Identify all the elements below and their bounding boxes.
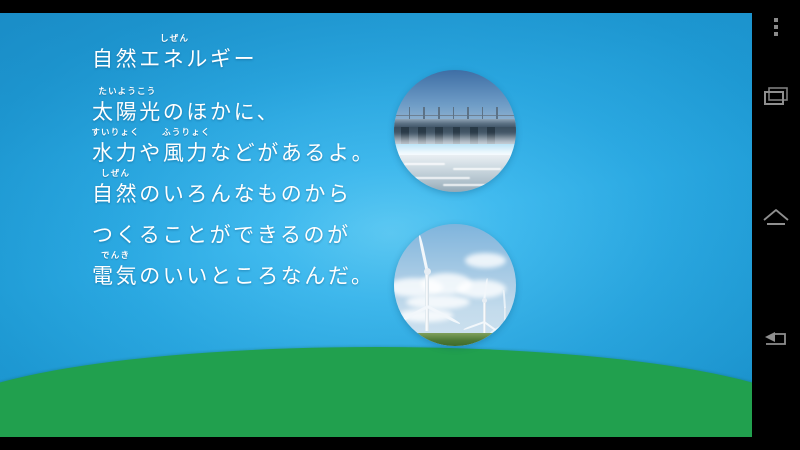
back-button[interactable] <box>752 313 800 361</box>
kanji-shizen-body: 自然 <box>92 182 139 206</box>
kanji-taiyoukou: 太陽光 <box>92 100 163 124</box>
slide-line-4-text: つくることができるのが <box>92 223 351 247</box>
dam-deck <box>394 119 516 128</box>
recents-button[interactable] <box>752 73 800 121</box>
back-arrow-icon <box>761 326 791 348</box>
turbine-mast <box>483 300 486 334</box>
dam-post <box>482 107 484 119</box>
slide-line-3-tail: のいろんなものから <box>139 182 351 206</box>
water-foam-streak <box>443 184 487 186</box>
ruby-group-shizen-title: しぜん 自然エネルギー <box>92 46 257 72</box>
cloud <box>465 253 506 268</box>
wind-turbines-photo <box>394 224 516 346</box>
turbine-mast <box>504 307 506 334</box>
dam-post <box>438 107 440 119</box>
furigana-suiryoku: すいりょく <box>91 129 140 138</box>
slide-line-5-tail: のいいところなんだ。 <box>139 264 374 288</box>
water-foam-streak <box>404 163 445 165</box>
dam-post <box>409 107 411 119</box>
more-vert-icon <box>774 15 778 39</box>
slide-line-2-tail: などがあるよ。 <box>210 141 375 165</box>
turbine-mast <box>425 270 429 331</box>
dam-post <box>467 107 469 119</box>
water-foam-streak <box>453 168 502 170</box>
dam-post <box>496 107 498 119</box>
device-screen: しぜん 自然エネルギー たいようこう 太陽光 のほかに、 すいりょく 水力 や … <box>0 0 800 450</box>
dam-river-water <box>394 155 516 192</box>
recents-icon <box>762 85 790 109</box>
slide-line-1-tail: のほかに、 <box>163 100 280 124</box>
home-button[interactable] <box>752 193 800 241</box>
furigana-shizen-title: しぜん <box>160 35 189 44</box>
furigana-denki: でんき <box>101 252 130 261</box>
video-player-surface[interactable]: しぜん 自然エネルギー たいようこう 太陽光 のほかに、 すいりょく 水力 や … <box>0 13 752 437</box>
ruby-group-taiyoukou: たいようこう 太陽光 <box>92 99 163 125</box>
ruby-group-shizen-body: しぜん 自然 <box>92 181 139 207</box>
ruby-group-suiryoku: すいりょく 水力 <box>92 140 139 166</box>
hydroelectric-dam-photo <box>394 70 516 192</box>
turbine-hub <box>424 268 431 275</box>
slide-title: しぜん 自然エネルギー <box>92 46 452 72</box>
overflow-menu-button[interactable] <box>752 3 800 51</box>
dam-post <box>453 107 455 119</box>
furigana-taiyoukou: たいようこう <box>98 88 156 97</box>
furigana-fuuryoku: ふうりょく <box>162 129 211 138</box>
kanji-suiryoku: 水力 <box>92 141 139 165</box>
slide-title-text: 自然エネルギー <box>92 47 257 71</box>
kanji-denki: 電気 <box>92 264 139 288</box>
furigana-shizen-body: しぜん <box>101 170 130 179</box>
home-icon <box>761 206 791 228</box>
water-foam-streak <box>414 177 470 179</box>
wind-farm-field <box>394 333 516 346</box>
android-navigation-bar <box>752 0 800 450</box>
dam-post <box>423 107 425 119</box>
ruby-group-fuuryoku: ふうりょく 風力 <box>163 140 210 166</box>
kanji-fuuryoku: 風力 <box>163 141 210 165</box>
ruby-group-denki: でんき 電気 <box>92 263 139 289</box>
slide-line-2-ya: や <box>139 141 163 165</box>
